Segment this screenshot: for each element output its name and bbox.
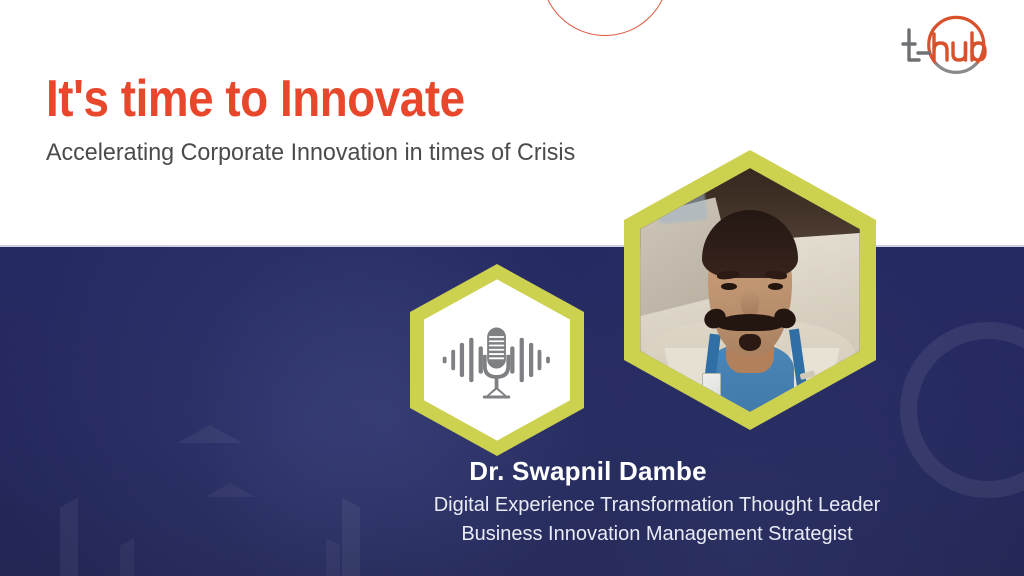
t-hub-logo bbox=[892, 14, 1002, 90]
slide-canvas: It's time to Innovate Accelerating Corpo… bbox=[0, 0, 1024, 576]
microphone-badge-fill bbox=[424, 279, 570, 440]
decorative-hexagon-outline-small bbox=[120, 483, 340, 576]
speaker-info: Dr. Swapnil Dambe Digital Experience Tra… bbox=[352, 455, 972, 548]
speaker-role-line-2: Business Innovation Management Strategis… bbox=[347, 520, 967, 548]
t-hub-logo-mark bbox=[892, 14, 1002, 90]
decorative-hexagon-outline-large bbox=[60, 425, 360, 576]
speaker-name: Dr. Swapnil Dambe bbox=[278, 455, 898, 488]
headline-subtitle: Accelerating Corporate Innovation in tim… bbox=[46, 138, 575, 168]
speaker-role-line-1: Digital Experience Transformation Though… bbox=[434, 494, 881, 516]
headline-title: It's time to Innovate bbox=[46, 72, 465, 127]
speaker-portrait-image bbox=[640, 168, 859, 412]
speaker-role: Digital Experience Transformation Though… bbox=[347, 491, 967, 548]
speaker-photo-border bbox=[624, 150, 876, 430]
speaker-photo-badge bbox=[624, 150, 876, 430]
podcast-microphone-glyph bbox=[441, 310, 552, 410]
microphone-badge-border bbox=[410, 264, 584, 456]
speaker-photo-frame bbox=[640, 168, 859, 412]
microphone-badge bbox=[410, 264, 584, 456]
podcast-microphone-icon bbox=[441, 310, 552, 410]
